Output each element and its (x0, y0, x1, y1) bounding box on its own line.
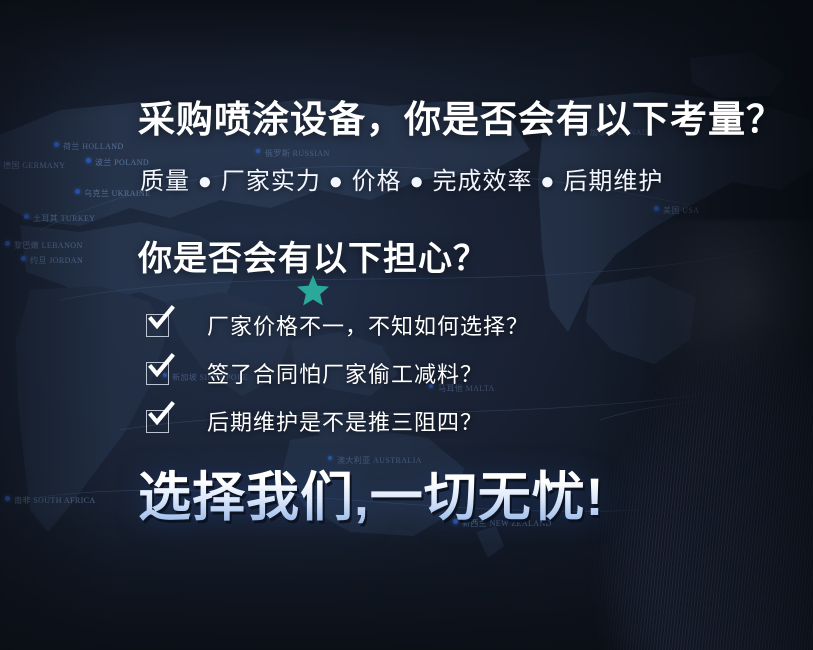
concern-checklist: 厂家价格不一，不知如何选择？签了合同怕厂家偷工减料？后期维护是不是推三阻四？ (146, 305, 529, 449)
checklist-item: 签了合同怕厂家偷工减料？ (146, 353, 529, 393)
banner-content: 采购喷涂设备，你是否会有以下考量？ 质量 ● 厂家实力 ● 价格 ● 完成效率 … (0, 0, 813, 650)
primary-headline: 采购喷涂设备，你是否会有以下考量？ (138, 89, 784, 143)
promo-banner: 荷兰 HOLLAND波兰 POLAND德国 GERMANY乌克兰 UKRAINE… (0, 0, 813, 650)
checklist-item: 厂家价格不一，不知如何选择？ (146, 305, 529, 345)
checkbox-checked-icon (146, 410, 169, 433)
checklist-item-label: 厂家价格不一，不知如何选择？ (207, 309, 529, 341)
secondary-headline: 你是否会有以下担心？ (138, 231, 488, 280)
checklist-item-label: 后期维护是不是推三阻四？ (207, 405, 483, 437)
checkbox-checked-icon (146, 314, 169, 337)
checkbox-checked-icon (146, 362, 169, 385)
closing-slogan: 选择我们,一切无忧! (138, 455, 604, 531)
feature-list-line: 质量 ● 厂家实力 ● 价格 ● 完成效率 ● 后期维护 (140, 161, 663, 196)
checklist-item: 后期维护是不是推三阻四？ (146, 401, 529, 441)
checklist-item-label: 签了合同怕厂家偷工减料？ (207, 357, 483, 389)
